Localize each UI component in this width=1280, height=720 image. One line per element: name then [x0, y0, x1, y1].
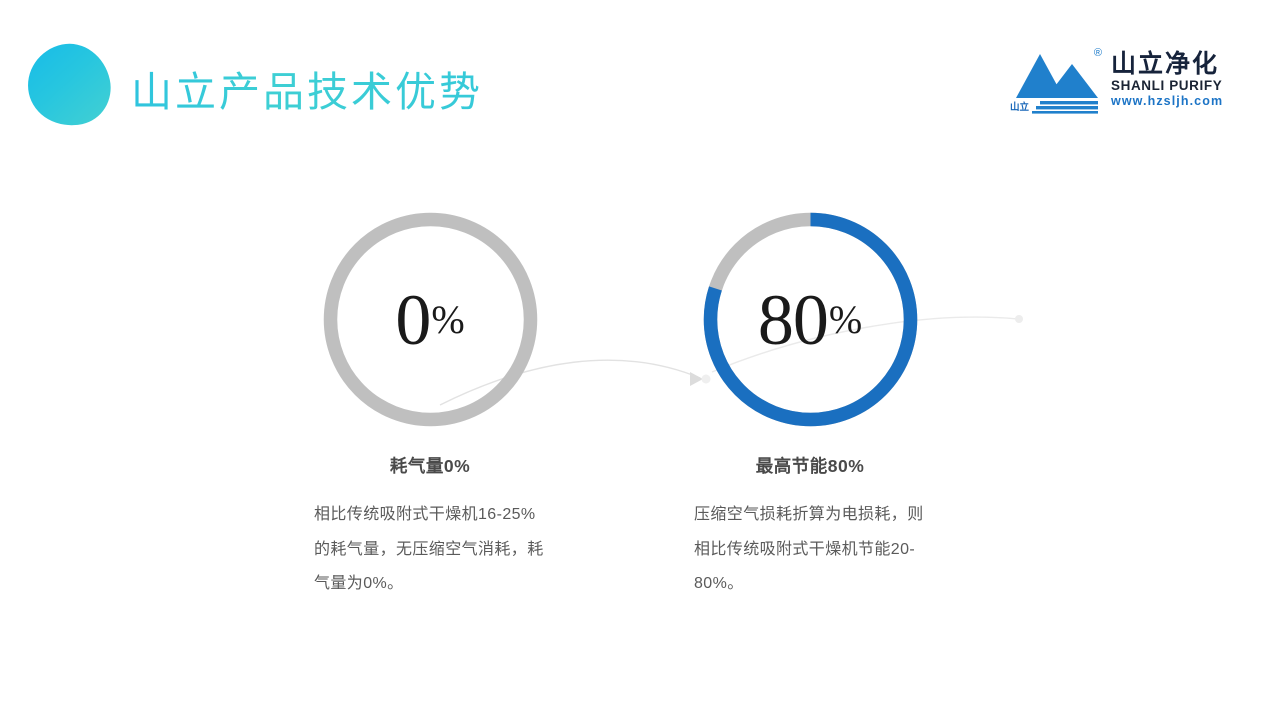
- stat-block-energy-saving: 80 % 最高节能80% 压缩空气损耗折算为电损耗，则相比传统吸附式干燥机节能2…: [660, 212, 960, 602]
- stat-body-energy-saving: 压缩空气损耗折算为电损耗，则相比传统吸附式干燥机节能20-80%。: [694, 498, 926, 602]
- donut-center-label-consumption: 0 %: [323, 212, 538, 427]
- logo-mark-caption: 山立: [1010, 103, 1029, 113]
- brand-logo: ® 山立 山立净化 SHANLI PURIFY www.hzsljh.com: [1010, 46, 1242, 116]
- donut-value-consumption: 0: [395, 284, 430, 356]
- page-title: 山立产品技术优势: [131, 58, 483, 118]
- decorative-blob-icon: [20, 36, 117, 133]
- logo-company-name-cn: 山立净化: [1111, 51, 1223, 78]
- stat-heading-energy-saving: 最高节能80%: [660, 453, 960, 478]
- donut-chart-energy-saving: 80 %: [703, 212, 918, 427]
- registered-trademark-icon: ®: [1094, 48, 1102, 59]
- donut-value-energy-saving: 80: [758, 284, 828, 356]
- slide-header: 山立产品技术优势 ® 山立 山立净化 SHANLI PURIFY www.hzs…: [0, 0, 1280, 150]
- shanli-mountain-logo-icon: ® 山立: [1010, 46, 1106, 114]
- stat-block-consumption: 0 % 耗气量0% 相比传统吸附式干燥机16-25%的耗气量，无压缩空气消耗，耗…: [280, 212, 580, 602]
- logo-website-url: www.hzsljh.com: [1111, 94, 1223, 109]
- stat-body-consumption: 相比传统吸附式干燥机16-25%的耗气量，无压缩空气消耗，耗气量为0%。: [314, 498, 546, 602]
- stat-heading-consumption: 耗气量0%: [280, 453, 580, 478]
- donut-chart-consumption: 0 %: [323, 212, 538, 427]
- logo-text-group: 山立净化 SHANLI PURIFY www.hzsljh.com: [1111, 46, 1223, 109]
- donut-center-label-energy-saving: 80 %: [703, 212, 918, 427]
- donut-unit-consumption: %: [431, 300, 464, 340]
- donut-unit-energy-saving: %: [829, 300, 862, 340]
- logo-company-name-en: SHANLI PURIFY: [1111, 78, 1223, 94]
